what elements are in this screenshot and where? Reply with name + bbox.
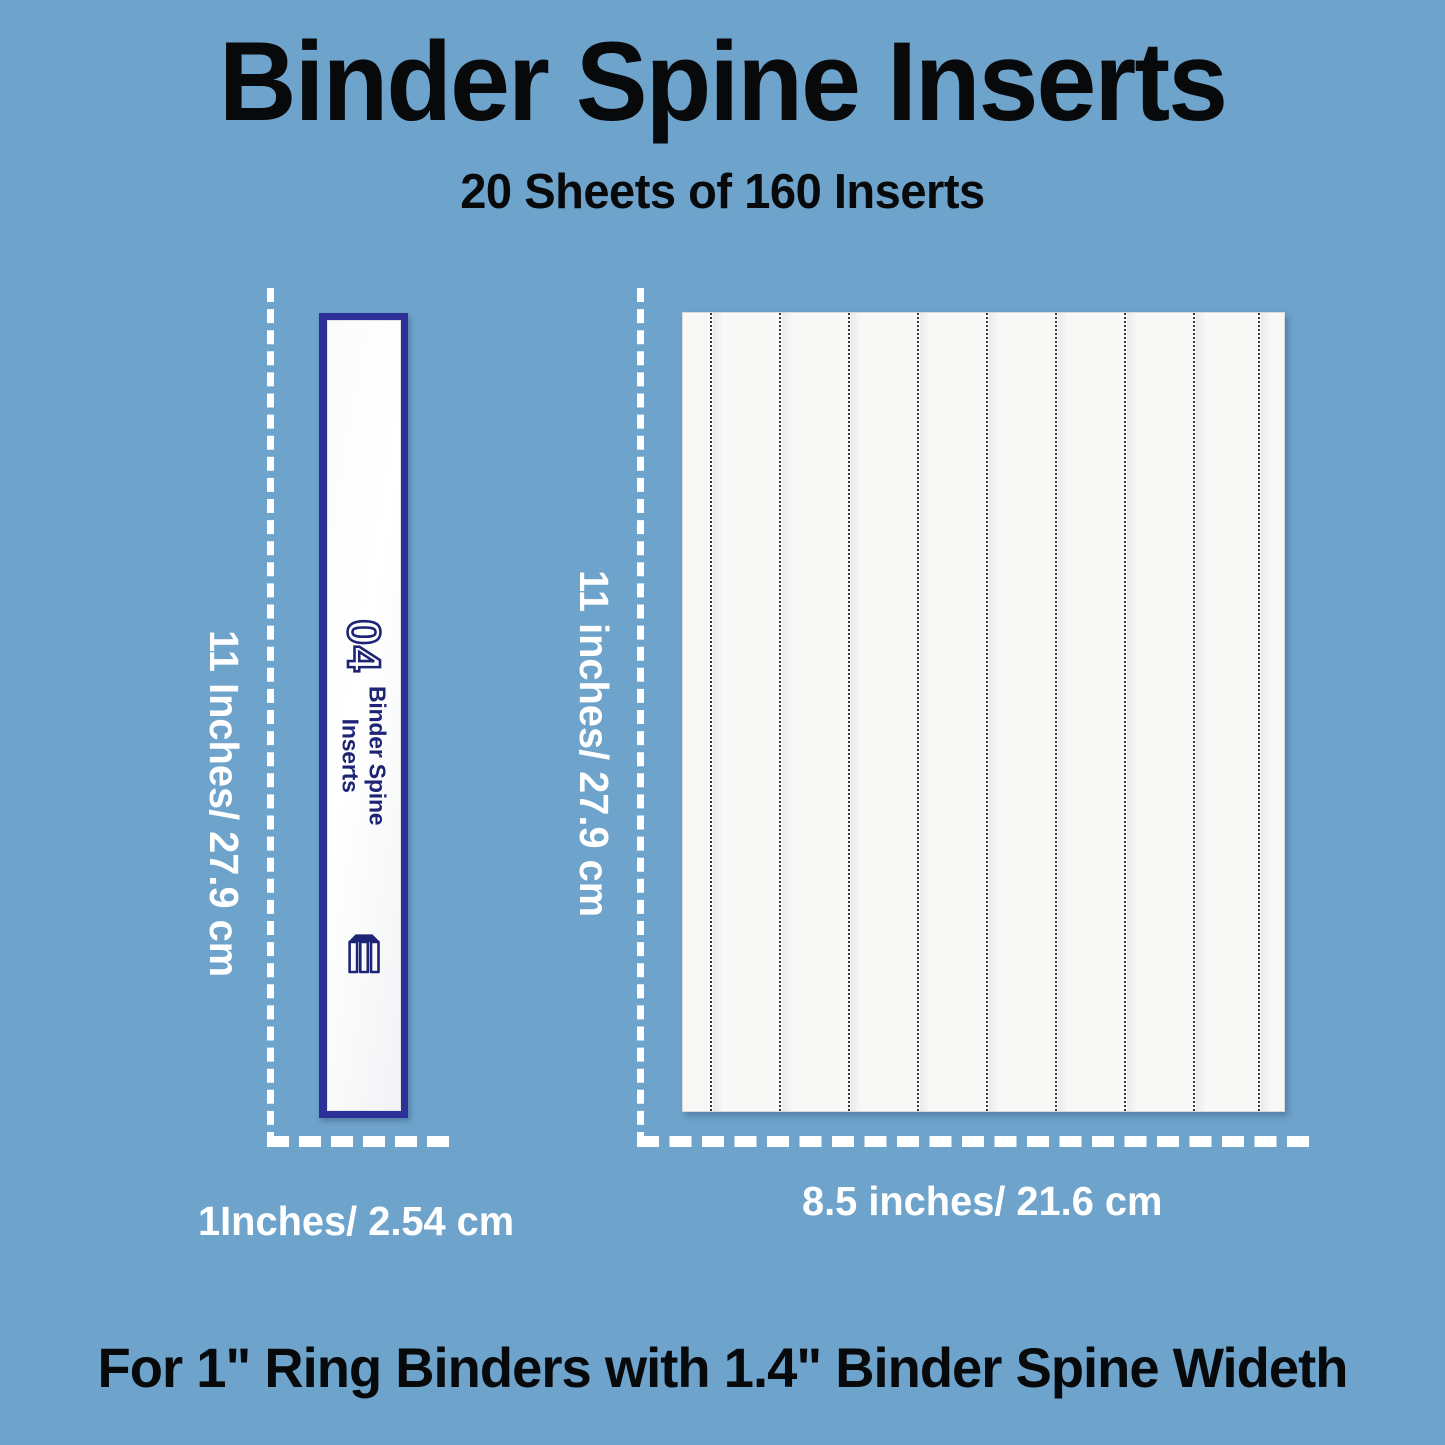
sheet-height-label: 11 inches/ 27.9 cm xyxy=(570,570,617,917)
sheet-height-guide-line xyxy=(637,288,644,1146)
spine-insert-card: 04 Binder Spine Inserts xyxy=(319,313,408,1118)
spine-width-label: 1Inches/ 2.54 cm xyxy=(198,1198,514,1245)
insert-sheet xyxy=(682,312,1285,1112)
sheet-width-label: 8.5 inches/ 21.6 cm xyxy=(802,1178,1162,1225)
cut-line xyxy=(1193,313,1195,1111)
cut-line xyxy=(779,313,781,1111)
spine-insert-title-line1: Binder Spine xyxy=(365,686,391,825)
spine-insert-label-group: 04 Binder Spine Inserts xyxy=(327,557,401,857)
spine-height-guide-line xyxy=(267,288,274,1146)
spine-insert-title-line2: Inserts xyxy=(338,719,364,793)
spine-height-label: 11 Inches/ 27.9 cm xyxy=(200,630,247,977)
cut-line xyxy=(710,313,712,1111)
binder-stack-icon xyxy=(346,933,382,977)
spine-width-guide-line xyxy=(267,1136,449,1147)
footer-text: For 1" Ring Binders with 1.4" Binder Spi… xyxy=(22,1340,1424,1396)
sheet-width-guide-line xyxy=(637,1136,1309,1147)
spine-insert-title: Binder Spine Inserts xyxy=(337,645,390,867)
infographic-canvas: Binder Spine Inserts 20 Sheets of 160 In… xyxy=(0,0,1445,1445)
cut-line xyxy=(1055,313,1057,1111)
cut-line xyxy=(1258,313,1260,1111)
cut-line xyxy=(917,313,919,1111)
spine-insert-face: 04 Binder Spine Inserts xyxy=(327,320,401,1111)
cut-line xyxy=(986,313,988,1111)
page-title: Binder Spine Inserts xyxy=(29,26,1416,138)
page-subtitle: 20 Sheets of 160 Inserts xyxy=(29,168,1416,217)
cut-line xyxy=(1124,313,1126,1111)
cut-line xyxy=(848,313,850,1111)
